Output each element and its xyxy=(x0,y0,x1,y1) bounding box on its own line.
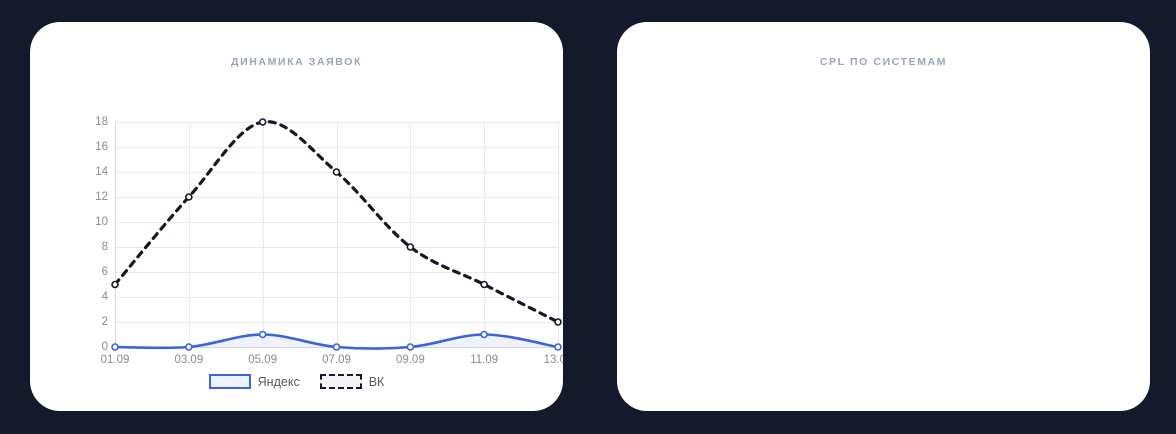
page-title-leads-dynamics: ДИНАМИКА ЗАЯВОК xyxy=(30,56,563,68)
y-axis-tick-label: 6 xyxy=(102,266,108,278)
line-chart-plot-area: 024681012141618 01.0903.0905.0907.0909.0… xyxy=(115,122,558,347)
legend-swatch-icon xyxy=(209,374,251,389)
legend-label: ВК xyxy=(369,375,385,389)
y-axis-tick-label: 10 xyxy=(95,216,108,228)
y-axis-tick-label: 4 xyxy=(102,291,108,303)
x-axis-tick-label: 13.09 xyxy=(544,354,563,366)
page-title-cpl-by-system: CPL ПО СИСТЕМАМ xyxy=(617,56,1150,68)
x-axis-tick-label: 03.09 xyxy=(174,354,203,366)
card-cpl-by-system: CPL ПО СИСТЕМАМ ЯндексВКонтакте 02 0004 … xyxy=(617,22,1150,411)
x-axis-tick-label: 09.09 xyxy=(396,354,425,366)
data-point-marker[interactable] xyxy=(555,344,561,350)
data-point-marker[interactable] xyxy=(407,244,413,250)
data-point-marker[interactable] xyxy=(481,282,487,288)
data-point-marker[interactable] xyxy=(334,344,340,350)
data-point-marker[interactable] xyxy=(186,344,192,350)
data-point-marker[interactable] xyxy=(260,119,266,125)
data-point-marker[interactable] xyxy=(334,169,340,175)
y-axis-tick-label: 16 xyxy=(95,141,108,153)
legend-label: Яндекс xyxy=(258,375,300,389)
line-chart-series-svg xyxy=(115,122,558,347)
y-axis-tick-label: 12 xyxy=(95,191,108,203)
data-point-marker[interactable] xyxy=(481,332,487,338)
legend-item-Яндекс[interactable]: Яндекс xyxy=(209,374,300,389)
legend-swatch-icon xyxy=(320,374,362,389)
y-axis-tick-label: 0 xyxy=(102,341,108,353)
y-axis-tick-label: 18 xyxy=(95,116,108,128)
x-axis-tick-label: 07.09 xyxy=(322,354,351,366)
data-point-marker[interactable] xyxy=(112,344,118,350)
y-axis-tick-label: 14 xyxy=(95,166,108,178)
y-axis-tick-label: 2 xyxy=(102,316,108,328)
x-axis-tick-label: 05.09 xyxy=(248,354,277,366)
dashboard-root: ДИНАМИКА ЗАЯВОК 024681012141618 01.0903.… xyxy=(0,0,1176,434)
line-chart-legend: ЯндексВК xyxy=(30,374,563,389)
y-axis-tick-label: 8 xyxy=(102,241,108,253)
data-point-marker[interactable] xyxy=(555,319,561,325)
legend-item-ВК[interactable]: ВК xyxy=(320,374,385,389)
data-point-marker[interactable] xyxy=(407,344,413,350)
data-point-marker[interactable] xyxy=(260,332,266,338)
data-point-marker[interactable] xyxy=(112,282,118,288)
x-axis-tick-label: 01.09 xyxy=(101,354,130,366)
card-leads-dynamics: ДИНАМИКА ЗАЯВОК 024681012141618 01.0903.… xyxy=(30,22,563,411)
data-point-marker[interactable] xyxy=(186,194,192,200)
x-axis-tick-label: 11.09 xyxy=(470,354,498,366)
gridline-vertical xyxy=(558,122,559,347)
series-line-ВК xyxy=(115,122,558,322)
